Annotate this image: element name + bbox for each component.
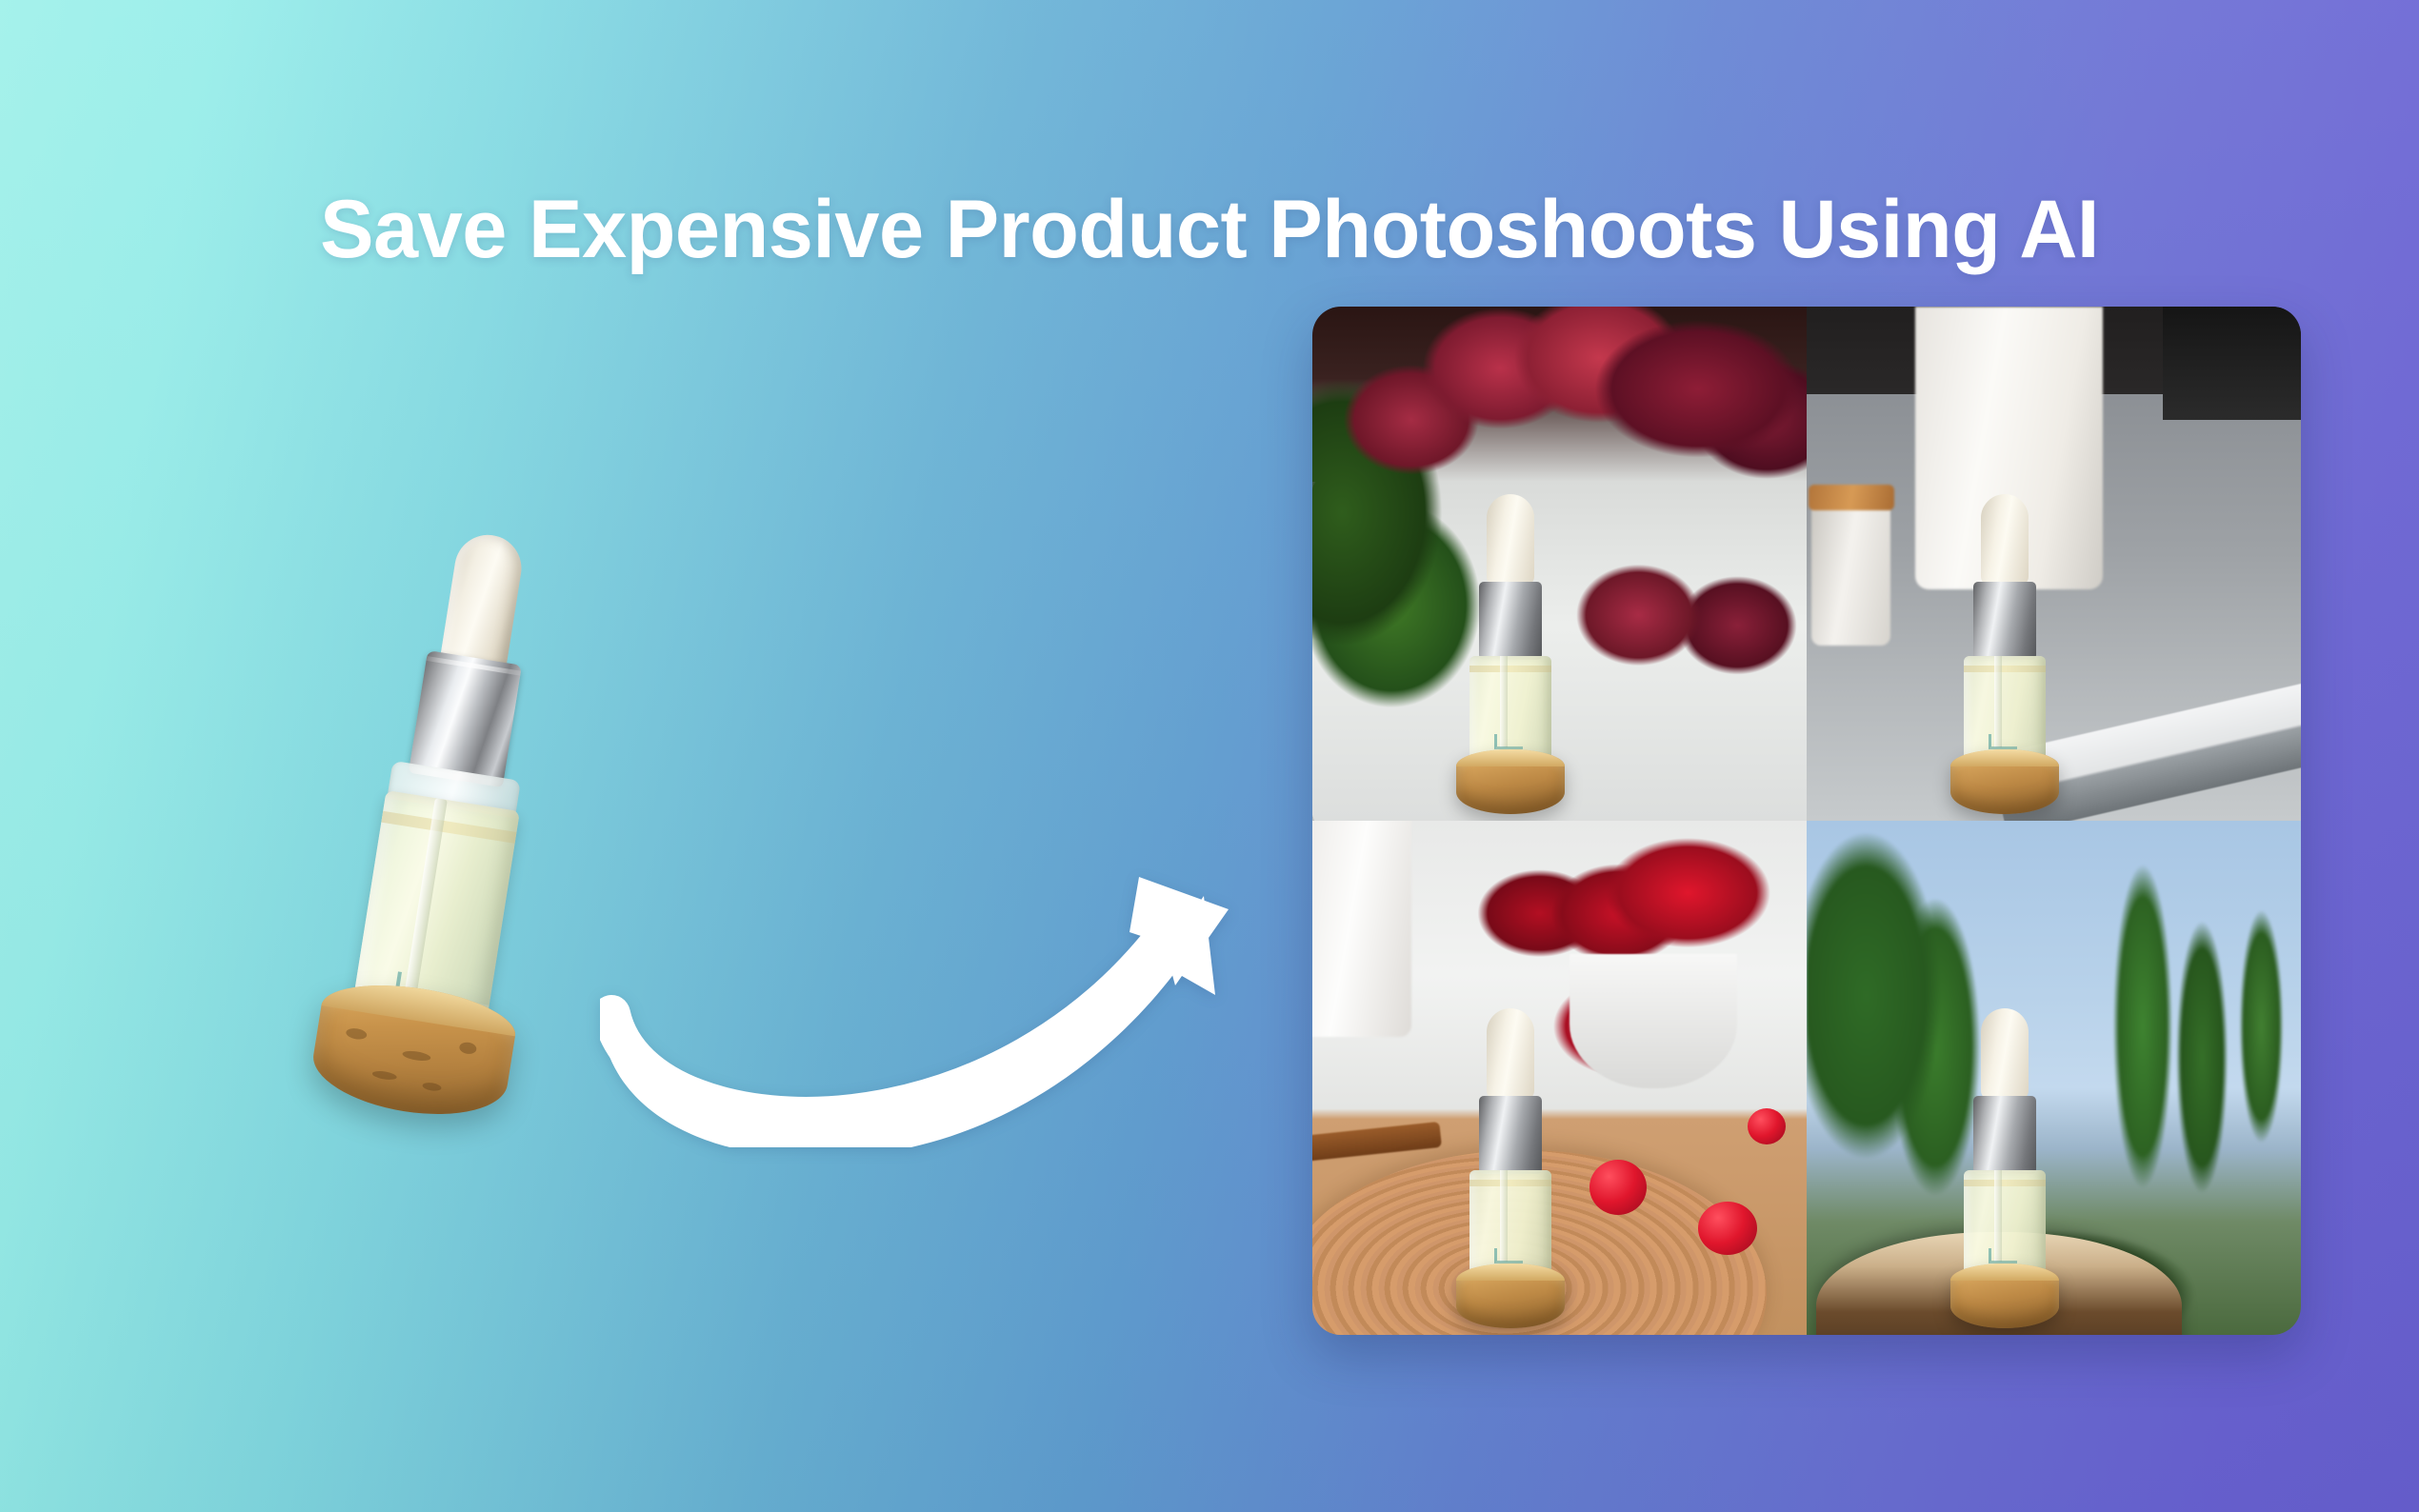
bottle-label-mark <box>1494 734 1523 749</box>
dropper-bottle <box>311 503 583 1059</box>
dropper-cap <box>1981 494 2029 586</box>
cork-base <box>1456 749 1565 814</box>
poster-canvas: Save Expensive Product Photoshoots Using… <box>0 0 2419 1512</box>
result-cell-berries-wood-slice[interactable] <box>1312 821 1807 1335</box>
bottle-label-mark <box>1494 1248 1523 1263</box>
bottle-collar <box>1973 1096 2036 1174</box>
bottle-label-mark <box>1989 734 2017 749</box>
dark-background-panel <box>2163 307 2301 420</box>
dropper-cap <box>1981 1008 2029 1100</box>
result-cell-stone-countertop[interactable] <box>1807 307 2301 821</box>
strawberry <box>1748 1108 1786 1144</box>
dropper-bottle <box>1949 494 2061 780</box>
dropper-bottle <box>1949 1008 2061 1294</box>
berry-bowl <box>1569 954 1737 1087</box>
cork-base <box>1950 1263 2059 1328</box>
curved-arrow-right-up-icon <box>600 852 1267 1147</box>
dropper-bottle <box>1454 1008 1567 1294</box>
strawberry <box>1589 1160 1647 1215</box>
ai-results-grid[interactable] <box>1312 307 2301 1335</box>
serum-surface <box>1964 666 2046 672</box>
serum-surface <box>1469 1180 1551 1186</box>
source-product-photo <box>246 492 649 1069</box>
dropper-cap <box>1487 1008 1534 1100</box>
bottle-collar <box>1479 1096 1542 1174</box>
cinnamon-stick <box>1312 1122 1442 1163</box>
page-title: Save Expensive Product Photoshoots Using… <box>18 187 2401 273</box>
bottle-collar <box>1479 582 1542 660</box>
serum-surface <box>1964 1180 2046 1186</box>
bottle-collar <box>1973 582 2036 660</box>
dropper-bottle <box>1454 494 1567 780</box>
cork-base <box>1456 1263 1565 1328</box>
strawberry <box>1698 1202 1757 1255</box>
bottle-label-mark <box>1989 1248 2017 1263</box>
result-cell-grapes-on-marble[interactable] <box>1312 307 1807 821</box>
serum-surface <box>1469 666 1551 672</box>
dropper-cap <box>1487 494 1534 586</box>
white-mug <box>1312 821 1411 1037</box>
cork-lidded-jar <box>1811 502 1890 646</box>
serum-surface <box>381 811 516 844</box>
result-cell-tree-stump-outdoors[interactable] <box>1807 821 2301 1335</box>
cork-base <box>1950 749 2059 814</box>
